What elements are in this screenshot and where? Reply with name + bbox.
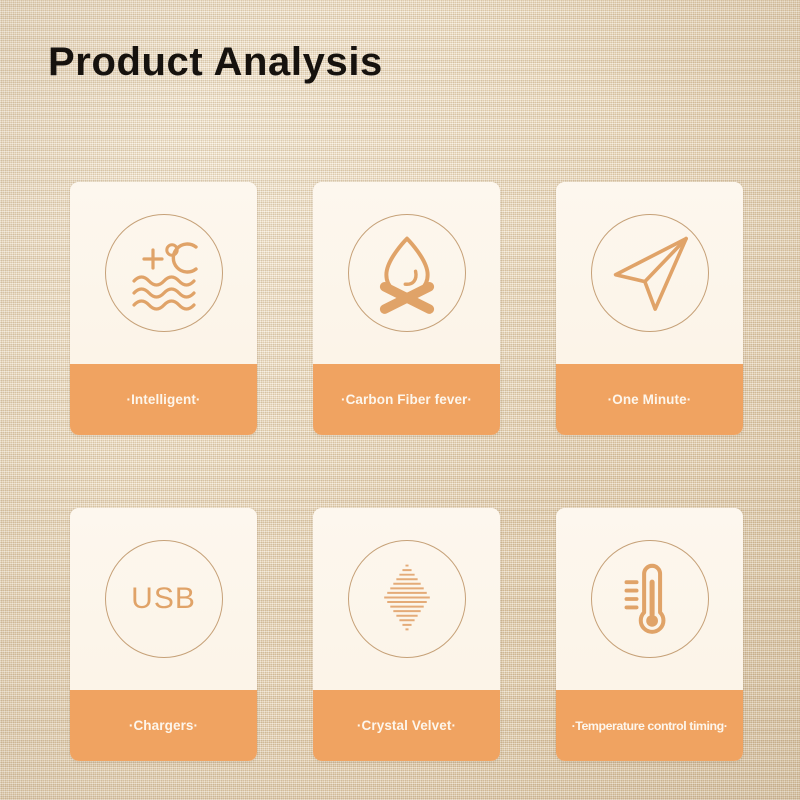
card-label-band: ·Carbon Fiber fever·	[313, 364, 500, 435]
card-label-band: ·Chargers·	[70, 690, 257, 761]
card-icon-area: USB	[70, 508, 257, 690]
card-label: ·One Minute·	[604, 392, 696, 407]
campfire-icon	[348, 214, 466, 332]
card-label: ·Crystal Velvet·	[353, 718, 460, 733]
thermometer-icon	[591, 540, 709, 658]
feature-card-one-minute[interactable]: ·One Minute·	[556, 182, 743, 435]
card-label: ·Chargers·	[125, 718, 202, 733]
feature-card-chargers[interactable]: USB ·Chargers·	[70, 508, 257, 761]
card-icon-area	[313, 508, 500, 690]
usb-label: USB	[131, 584, 196, 614]
card-icon-area	[556, 508, 743, 690]
feature-card-temperature-control-timing[interactable]: ·Temperature control timing·	[556, 508, 743, 761]
card-label-band: ·One Minute·	[556, 364, 743, 435]
feature-card-carbon-fiber-fever[interactable]: ·Carbon Fiber fever·	[313, 182, 500, 435]
page-title: Product Analysis	[48, 40, 383, 84]
card-label: ·Temperature control timing·	[568, 719, 732, 733]
diamond-stripes-icon	[348, 540, 466, 658]
card-icon-area	[70, 182, 257, 364]
card-label: ·Carbon Fiber fever·	[337, 392, 476, 407]
card-icon-area	[556, 182, 743, 364]
card-label: ·Intelligent·	[122, 392, 204, 407]
card-label-band: ·Crystal Velvet·	[313, 690, 500, 761]
card-label-band: ·Temperature control timing·	[556, 690, 743, 761]
temperature-waves-icon	[105, 214, 223, 332]
card-icon-area	[313, 182, 500, 364]
feature-card-grid: ·Intelligent· ·Ca	[70, 182, 731, 761]
feature-card-crystal-velvet[interactable]: ·Crystal Velvet·	[313, 508, 500, 761]
usb-icon: USB	[105, 540, 223, 658]
feature-card-intelligent[interactable]: ·Intelligent·	[70, 182, 257, 435]
product-analysis-page: Product Analysis	[0, 0, 800, 800]
card-label-band: ·Intelligent·	[70, 364, 257, 435]
paper-plane-icon	[591, 214, 709, 332]
